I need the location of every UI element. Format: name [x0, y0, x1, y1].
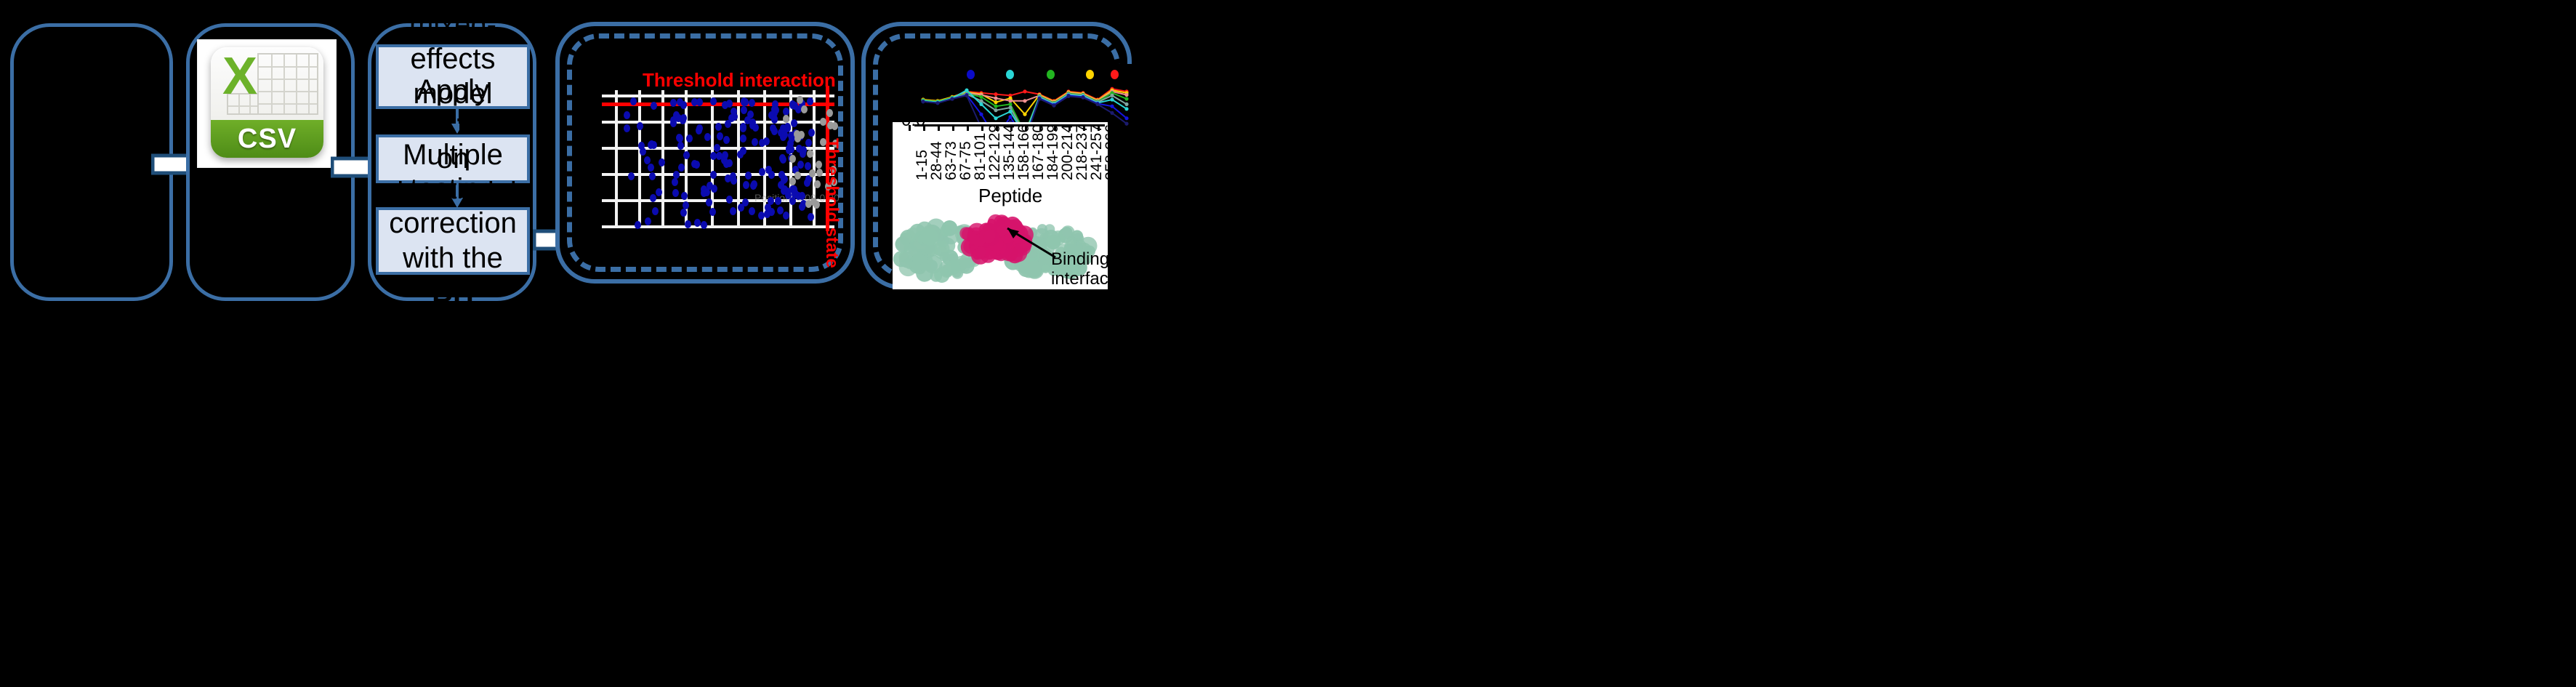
x-tick [1083, 125, 1085, 131]
scatter-point [681, 192, 688, 200]
protein-surface-blob [959, 258, 975, 274]
scatter-point [744, 116, 751, 124]
excel-x-glyph: X [222, 50, 257, 103]
scatter-point-nonsignificant [797, 96, 803, 104]
scatter-point [701, 221, 707, 229]
scatter-point [726, 196, 733, 204]
grid-v [615, 90, 618, 228]
scatter-point-nonsignificant [832, 122, 838, 130]
mt-line3-post: procedure [387, 310, 518, 342]
scatter-point [714, 144, 720, 152]
data-point [1008, 103, 1012, 106]
x-tick [1068, 125, 1071, 131]
data-point [1110, 97, 1114, 101]
legend-dot-green [1047, 70, 1055, 79]
scatter-point [745, 172, 752, 180]
scatter-point [694, 219, 701, 227]
scatter-point [630, 97, 637, 105]
protein-surface-blob [940, 225, 951, 236]
scatter-point [749, 207, 755, 215]
csv-band-label: CSV [238, 124, 297, 155]
data-point [1066, 95, 1070, 98]
scatter-point [791, 185, 797, 193]
x-tick [1098, 125, 1100, 131]
scatter-point [749, 99, 755, 107]
legend-dot-cyan [1006, 70, 1014, 79]
scatter-point [672, 189, 679, 197]
data-point [994, 108, 997, 112]
protein-surface-blob [946, 260, 960, 275]
csv-grid-main [257, 53, 318, 115]
x-tick [1054, 125, 1056, 131]
scatter-point [751, 180, 757, 188]
scatter-point [624, 124, 630, 132]
x-tick [967, 125, 969, 131]
legend-dot-red [1111, 70, 1119, 79]
x-tick [1039, 125, 1042, 131]
scatter-point [752, 138, 758, 146]
scatter-point [726, 159, 733, 167]
scatter-point [737, 150, 744, 158]
mt-line3-pre: with the [403, 242, 503, 274]
scatter-point [741, 106, 747, 114]
scatter-point [644, 156, 651, 164]
data-point [979, 103, 983, 106]
data-point [1008, 105, 1012, 109]
scatter-point [808, 129, 815, 137]
data-point [1037, 97, 1041, 100]
csv-file-icon: X CSV [211, 47, 323, 158]
data-point [1008, 99, 1012, 103]
scatter-point [691, 160, 698, 168]
scatter-point [717, 132, 723, 140]
scatter-point [768, 197, 774, 205]
data-point [1110, 105, 1114, 108]
scatter-point [764, 210, 770, 218]
scatter-point [783, 108, 789, 116]
scatter-point [685, 220, 691, 228]
scatter-point [715, 123, 722, 131]
data-point [994, 92, 997, 96]
data-point [1110, 111, 1114, 115]
scatter-point [710, 97, 717, 105]
scatter-point [777, 206, 784, 214]
scatter-point [624, 111, 630, 119]
data-point [1110, 94, 1114, 97]
scatter-point [638, 142, 645, 150]
scatter-point [680, 209, 687, 217]
scatter-point [789, 100, 796, 108]
scatter-point [637, 122, 643, 130]
x-tick [981, 125, 983, 131]
volcano-scatter-plot: Position: 0.00-0.00 [602, 90, 834, 228]
scatter-point [805, 162, 811, 170]
input-panel [10, 23, 173, 301]
scatter-point [652, 207, 659, 215]
data-point [1124, 107, 1128, 111]
protein-surface-blob [1062, 227, 1073, 238]
data-point [1124, 122, 1128, 126]
scatter-point [672, 178, 678, 186]
data-point [1008, 110, 1012, 113]
threshold-interaction-label: Threshold interaction [643, 69, 836, 92]
scatter-point [728, 114, 735, 122]
scatter-point [673, 171, 680, 179]
data-point [921, 100, 925, 103]
data-point [994, 100, 997, 104]
scatter-point [783, 212, 789, 220]
protein-surface-blob [912, 253, 925, 265]
scatter-point [738, 204, 744, 212]
data-point [994, 105, 997, 108]
scatter-point [763, 137, 770, 145]
scatter-point [740, 134, 746, 142]
peptide-surface-blob [980, 228, 996, 244]
data-point [994, 116, 997, 120]
data-point [950, 97, 954, 100]
scatter-point [791, 119, 797, 127]
x-tick [909, 125, 911, 131]
scatter-point [768, 171, 775, 179]
legend-dot-blue [967, 70, 975, 79]
scatter-point [741, 98, 747, 106]
scatter-point [722, 151, 728, 159]
scatter-point [800, 150, 806, 158]
scatter-point-nonsignificant [807, 150, 813, 158]
x-tick [923, 125, 925, 131]
scatter-point-nonsignificant [826, 109, 833, 117]
scatter-point [686, 134, 693, 142]
data-point [994, 97, 997, 100]
scatter-point [770, 124, 776, 132]
scatter-point [797, 161, 804, 169]
data-point [965, 94, 968, 97]
fit-model-line1: Fit a linear mixed- [409, 0, 496, 41]
peptide-axis-structure-card: 0.0 1-1528-4463-7367-7581-101122-129135-… [893, 122, 1108, 289]
mt-line2: correction [389, 207, 517, 239]
scatter-point [677, 142, 684, 150]
scatter-point [683, 151, 690, 159]
scatter-point [743, 181, 749, 189]
data-point [935, 101, 939, 105]
scatter-point [710, 171, 717, 179]
legend-dot-yellow [1086, 70, 1094, 79]
data-point [1095, 103, 1099, 106]
protein-surface-blob [935, 246, 947, 259]
data-point [965, 89, 968, 92]
binding-interface-line2: interface [1051, 270, 1108, 289]
scatter-point [696, 124, 703, 132]
scatter-point [773, 106, 779, 114]
multiple-testing-box: Multiple testing correction with the BH … [376, 207, 530, 275]
scatter-point [648, 164, 654, 172]
scatter-point-nonsignificant [813, 201, 820, 209]
data-point [1124, 116, 1128, 120]
scatter-point [758, 212, 765, 220]
protein-surface-blob [906, 228, 919, 241]
protein-surface-blob [921, 228, 938, 246]
data-point [1023, 99, 1026, 103]
data-point [1124, 103, 1128, 106]
scatter-point [730, 177, 737, 185]
mt-line1: Multiple testing [403, 139, 503, 205]
peptide-legend [893, 64, 1132, 86]
scatter-point-nonsignificant [789, 155, 796, 163]
scatter-point [704, 133, 711, 141]
scatter-point [781, 185, 788, 193]
scatter-point [650, 194, 656, 202]
data-point [1008, 115, 1012, 118]
data-point [1124, 93, 1128, 97]
wald-line1-pre: Apply [416, 74, 489, 106]
grid-v [638, 90, 641, 228]
scatter-point-nonsignificant [820, 118, 826, 126]
scatter-point-nonsignificant [801, 105, 808, 113]
x-tick-label: 258-266 [1103, 124, 1108, 180]
scatter-point [659, 158, 665, 166]
scatter-point [709, 208, 716, 216]
data-point [1124, 97, 1128, 100]
mt-strong: BH [432, 276, 474, 308]
binding-interface-leader-arrow [994, 224, 1060, 268]
scatter-point [677, 134, 683, 142]
scatter-point [804, 179, 810, 187]
scatter-point [648, 140, 655, 148]
scatter-point [649, 172, 656, 180]
scatter-point [683, 201, 689, 209]
wald-strong: Wald tests [381, 108, 526, 140]
scatter-point [722, 101, 728, 109]
scatter-point [628, 172, 635, 180]
scatter-point [710, 152, 717, 160]
data-point [1023, 89, 1026, 93]
figure-canvas: X CSV Fit a linear mixed- effects model … [0, 0, 2576, 687]
csv-spreadsheet-graphic: X [211, 47, 323, 120]
scatter-point [730, 207, 736, 215]
scatter-point-nonsignificant [789, 177, 796, 185]
x-tick [952, 125, 954, 131]
data-point [979, 95, 983, 99]
scatter-point [799, 192, 805, 200]
scatter-point [678, 164, 685, 172]
scatter-point-nonsignificant [814, 180, 821, 188]
data-point [1052, 104, 1055, 108]
peptide-surface-blob [975, 247, 986, 258]
scatter-point-nonsignificant [794, 134, 801, 142]
scatter-point [645, 217, 651, 225]
data-point [1081, 96, 1084, 100]
x-tick [1025, 125, 1027, 131]
data-point [1023, 113, 1026, 116]
x-tick [996, 125, 998, 131]
scatter-point [740, 124, 746, 132]
scatter-point [805, 139, 812, 147]
csv-icon-card: X CSV [198, 40, 336, 167]
scatter-point [670, 99, 677, 107]
scatter-point [725, 174, 731, 182]
scatter-point [775, 197, 781, 205]
scatter-point [707, 182, 713, 190]
threshold-state-label: Threshold state [821, 138, 842, 268]
peptide-figure: 0.0 1-1528-4463-7367-7581-101122-129135-… [893, 64, 1132, 289]
scatter-point [723, 136, 730, 144]
data-point [979, 113, 983, 116]
scatter-point [651, 102, 657, 110]
x-tick [1010, 125, 1013, 131]
scatter-point [656, 188, 662, 196]
x-tick [938, 125, 940, 131]
scatter-point [778, 171, 785, 179]
csv-label-band: CSV [211, 120, 323, 158]
scatter-point [781, 131, 788, 139]
